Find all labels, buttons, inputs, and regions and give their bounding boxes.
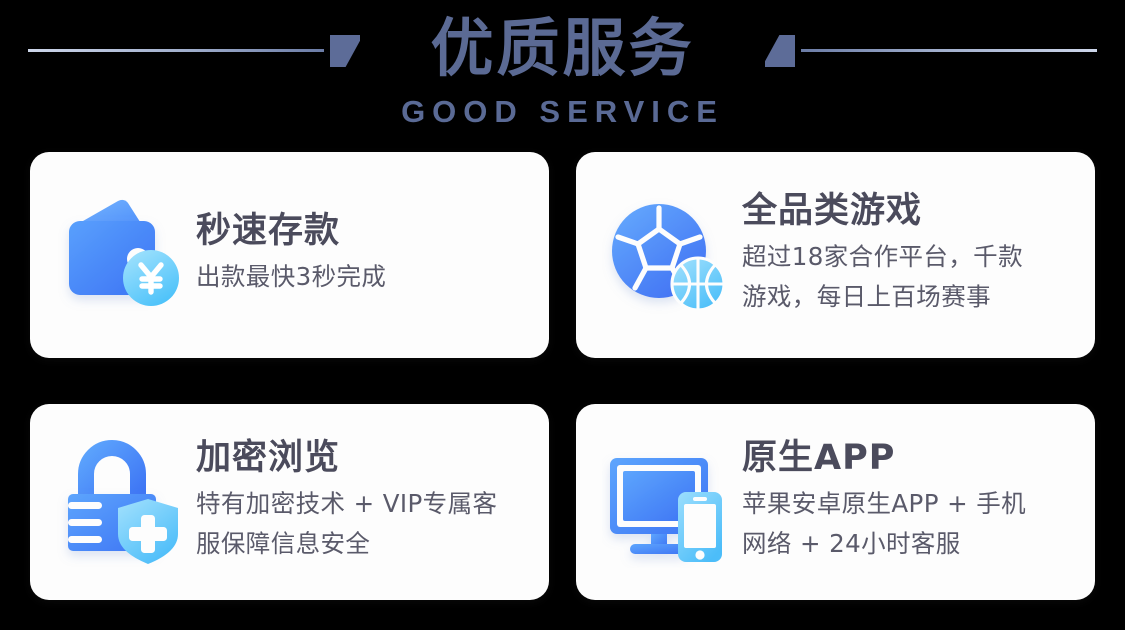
feature-card-grid: 秒速存款 出款最快3秒完成 [30,152,1095,600]
card-subtitle: 苹果安卓原生APP + 手机 网络 + 24小时客服 [742,484,1026,564]
card-title: 全品类游戏 [742,189,1023,233]
card-subtitle: 特有加密技术 + VIP专属客 服保障信息安全 [196,484,497,564]
card-text: 秒速存款 出款最快3秒完成 [188,209,386,301]
card-text: 原生APP 苹果安卓原生APP + 手机 网络 + 24小时客服 [734,436,1026,568]
card-text: 加密浏览 特有加密技术 + VIP专属客 服保障信息安全 [188,436,497,568]
card-title: 秒速存款 [196,209,386,253]
card-subtitle-line: 游戏，每日上百场赛事 [742,277,1023,317]
page-title: 优质服务 [0,8,1125,90]
card-title: 原生APP [742,436,1026,480]
soccer-basketball-icon [602,189,734,321]
monitor-phone-icon [602,436,734,568]
header: 优质服务 GOOD SERVICE [0,0,1125,142]
lock-shield-icon [56,436,188,568]
card-subtitle-line: 超过18家合作平台，千款 [742,237,1023,277]
card-subtitle-line: 特有加密技术 + VIP专属客 [196,484,497,524]
promo-banner: 优质服务 GOOD SERVICE [0,0,1125,630]
card-subtitle-line: 苹果安卓原生APP + 手机 [742,484,1026,524]
card-subtitle-line: 出款最快3秒完成 [196,257,386,297]
feature-card-games[interactable]: 全品类游戏 超过18家合作平台，千款 游戏，每日上百场赛事 [576,152,1095,358]
card-subtitle: 超过18家合作平台，千款 游戏，每日上百场赛事 [742,237,1023,317]
card-text: 全品类游戏 超过18家合作平台，千款 游戏，每日上百场赛事 [734,189,1023,321]
feature-card-native-app[interactable]: 原生APP 苹果安卓原生APP + 手机 网络 + 24小时客服 [576,404,1095,600]
card-subtitle-line: 服保障信息安全 [196,524,497,564]
feature-card-encryption[interactable]: 加密浏览 特有加密技术 + VIP专属客 服保障信息安全 [30,404,549,600]
card-subtitle-line: 网络 + 24小时客服 [742,524,1026,564]
card-subtitle: 出款最快3秒完成 [196,257,386,297]
page-subtitle: GOOD SERVICE [0,95,1125,129]
feature-card-deposit[interactable]: 秒速存款 出款最快3秒完成 [30,152,549,358]
card-title: 加密浏览 [196,436,497,480]
wallet-coin-icon [56,189,188,321]
